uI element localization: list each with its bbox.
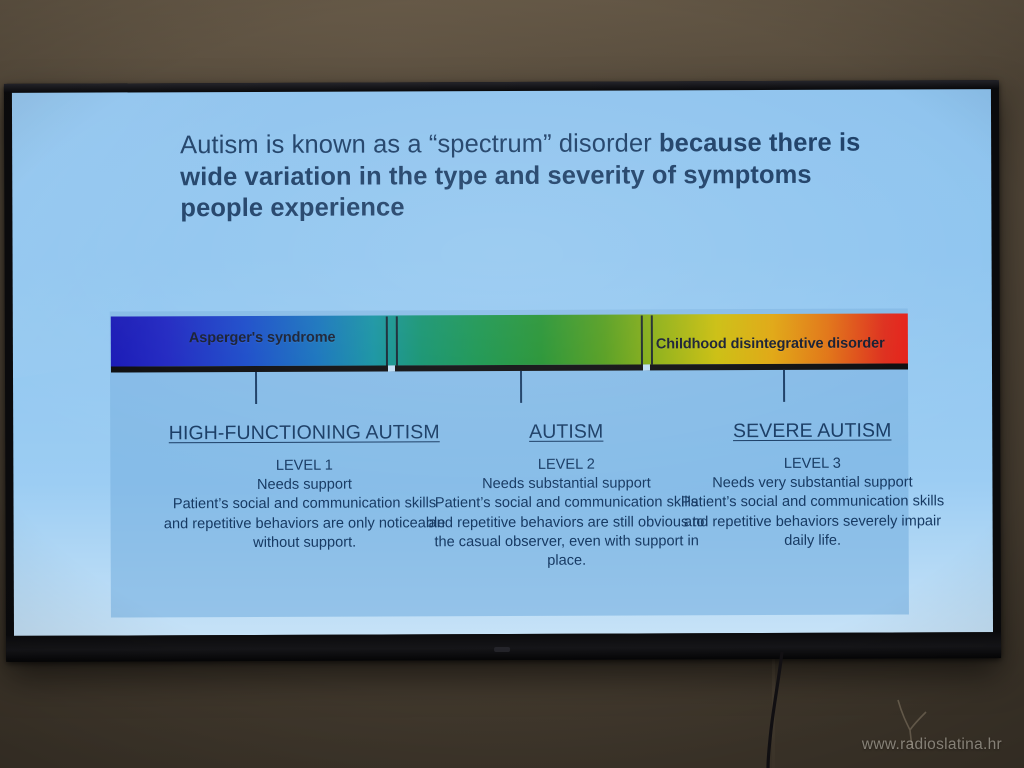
column-title-level-1: HIGH-FUNCTIONING AUTISM: [159, 421, 449, 445]
tv-bezel-bottom: [6, 632, 1001, 662]
column-support-1: Needs support: [159, 475, 449, 495]
presentation-slide: Autism is known as a “spectrum” disorder…: [12, 89, 993, 636]
spectrum-tick-level-3: [783, 370, 785, 402]
column-title-level-3: SEVERE AUTISM: [667, 419, 957, 443]
spectrum-label-childhood-disintegrative: Childhood disintegrative disorder: [656, 336, 885, 353]
spectrum-divider-left-b: [396, 316, 398, 365]
ir-sensor: [494, 647, 510, 652]
column-body-level-3: LEVEL 3 Needs very substantial support P…: [667, 454, 957, 551]
underline-gap-left: [388, 365, 395, 371]
spectrum-bar-group: Asperger's syndrome Childhood disintegra…: [111, 313, 908, 368]
tv-screen: Autism is known as a “spectrum” disorder…: [12, 89, 993, 636]
column-level-3: SEVERE AUTISM LEVEL 3 Needs very substan…: [667, 419, 958, 551]
column-description-3: Patient’s social and communication skill…: [667, 493, 957, 552]
slide-title-regular: Autism is known as a “spectrum” disorder: [180, 129, 659, 159]
spectrum-divider-right-a: [641, 315, 643, 364]
photo-scene: Autism is known as a “spectrum” disorder…: [0, 0, 1024, 768]
column-level-1: HIGH-FUNCTIONING AUTISM LEVEL 1 Needs su…: [159, 421, 450, 553]
wall-light-sheen: [0, 0, 1024, 92]
wall-mounted-tv: Autism is known as a “spectrum” disorder…: [4, 80, 1001, 662]
spectrum-label-aspergers: Asperger's syndrome: [189, 330, 336, 347]
spectrum-tick-level-1: [255, 372, 257, 404]
underline-gap-right: [643, 364, 650, 370]
column-support-3: Needs very substantial support: [667, 473, 957, 493]
column-level-label-1: LEVEL 1: [159, 456, 449, 476]
spectrum-divider-right-b: [651, 315, 653, 364]
column-level-label-3: LEVEL 3: [667, 454, 957, 474]
spectrum-divider-left-a: [386, 316, 388, 365]
column-description-1: Patient’s social and communication skill…: [159, 495, 449, 554]
column-body-level-1: LEVEL 1 Needs support Patient’s social a…: [159, 456, 449, 553]
power-cable: [760, 652, 820, 768]
watermark: www.radioslatina.hr: [862, 736, 1002, 754]
spectrum-tick-level-2: [520, 371, 522, 403]
slide-title: Autism is known as a “spectrum” disorder…: [180, 128, 880, 225]
